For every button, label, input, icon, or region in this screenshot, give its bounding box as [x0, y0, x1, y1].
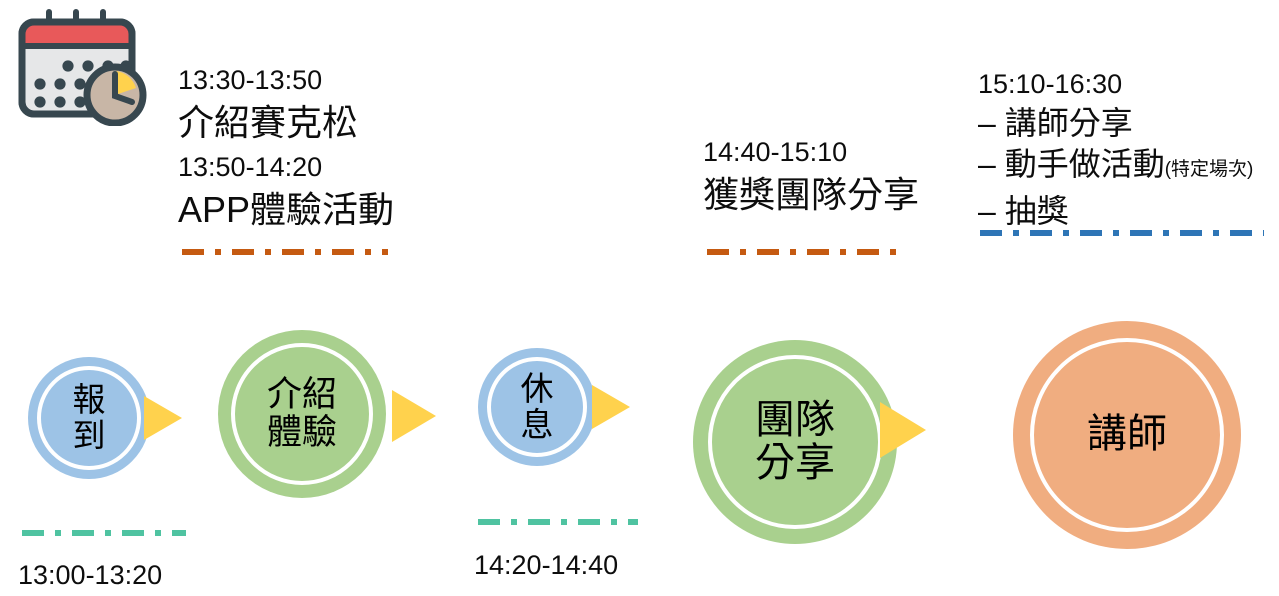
- schedule-block-speaker: 15:10-16:30 – 講師分享 – 動手做活動(特定場次) – 抽獎: [978, 66, 1253, 231]
- process-node-intro-exp-label: 介紹 體驗: [267, 376, 337, 452]
- speaker-bullet-2: – 動手做活動(特定場次): [978, 144, 1253, 190]
- team-share-title: 獲獎團隊分享: [703, 172, 919, 218]
- process-node-speaker[interactable]: 講師: [1013, 321, 1241, 549]
- team-label-line1: 團隊: [755, 398, 835, 442]
- intro-title-1: 介紹賽克松: [178, 100, 394, 146]
- arrow-team-to-speaker: [880, 402, 926, 458]
- process-node-team-share-label: 團隊 分享: [755, 399, 835, 485]
- arrow-break-to-team: [592, 385, 630, 429]
- team-label-line2: 分享: [755, 441, 835, 485]
- arrow-checkin-to-intro: [144, 396, 182, 440]
- process-node-break-label: 休 息: [521, 371, 554, 442]
- break-label-line1: 休: [521, 370, 554, 407]
- footer-time-break: 14:20-14:40: [474, 547, 618, 583]
- process-node-checkin-label: 報 到: [73, 382, 106, 453]
- divider-rule-intro: [182, 249, 388, 255]
- intro-label-line2: 體驗: [267, 413, 337, 452]
- speaker-bullet-2-note: (特定場次): [1165, 159, 1254, 180]
- divider-rule-speaker: [980, 230, 1264, 236]
- intro-label-line1: 介紹: [267, 375, 337, 414]
- footer-time-checkin: 13:00-13:20: [18, 557, 162, 593]
- arrow-intro-to-break: [392, 390, 436, 442]
- speaker-time: 15:10-16:30: [978, 66, 1253, 102]
- speaker-bullet-2-main: – 動手做活動: [978, 146, 1165, 182]
- schedule-block-intro: 13:30-13:50 介紹賽克松 13:50-14:20 APP體驗活動: [178, 62, 394, 233]
- intro-title-2: APP體驗活動: [178, 187, 394, 233]
- divider-rule-checkin-time: [22, 530, 186, 536]
- process-node-speaker-label: 講師: [1087, 413, 1167, 456]
- checkin-label-line1: 報: [73, 381, 106, 418]
- break-label-line2: 息: [521, 406, 554, 443]
- process-node-break[interactable]: 休 息: [478, 348, 596, 466]
- schedule-block-team-share: 14:40-15:10 獲獎團隊分享: [703, 134, 919, 218]
- team-share-time: 14:40-15:10: [703, 134, 919, 170]
- calendar-clock-icon: [14, 8, 154, 126]
- speaker-bullet-3: – 抽獎: [978, 191, 1253, 231]
- timeline-canvas: 13:30-13:50 介紹賽克松 13:50-14:20 APP體驗活動 14…: [0, 0, 1279, 596]
- process-node-team-share[interactable]: 團隊 分享: [693, 340, 897, 544]
- process-node-checkin[interactable]: 報 到: [28, 357, 150, 479]
- divider-rule-break-time: [478, 519, 638, 525]
- intro-time-1: 13:30-13:50: [178, 62, 394, 98]
- process-node-intro-exp[interactable]: 介紹 體驗: [218, 330, 386, 498]
- divider-rule-team-share: [707, 249, 903, 255]
- checkin-label-line2: 到: [73, 417, 106, 454]
- speaker-bullet-1: – 講師分享: [978, 103, 1253, 143]
- intro-time-2: 13:50-14:20: [178, 149, 394, 185]
